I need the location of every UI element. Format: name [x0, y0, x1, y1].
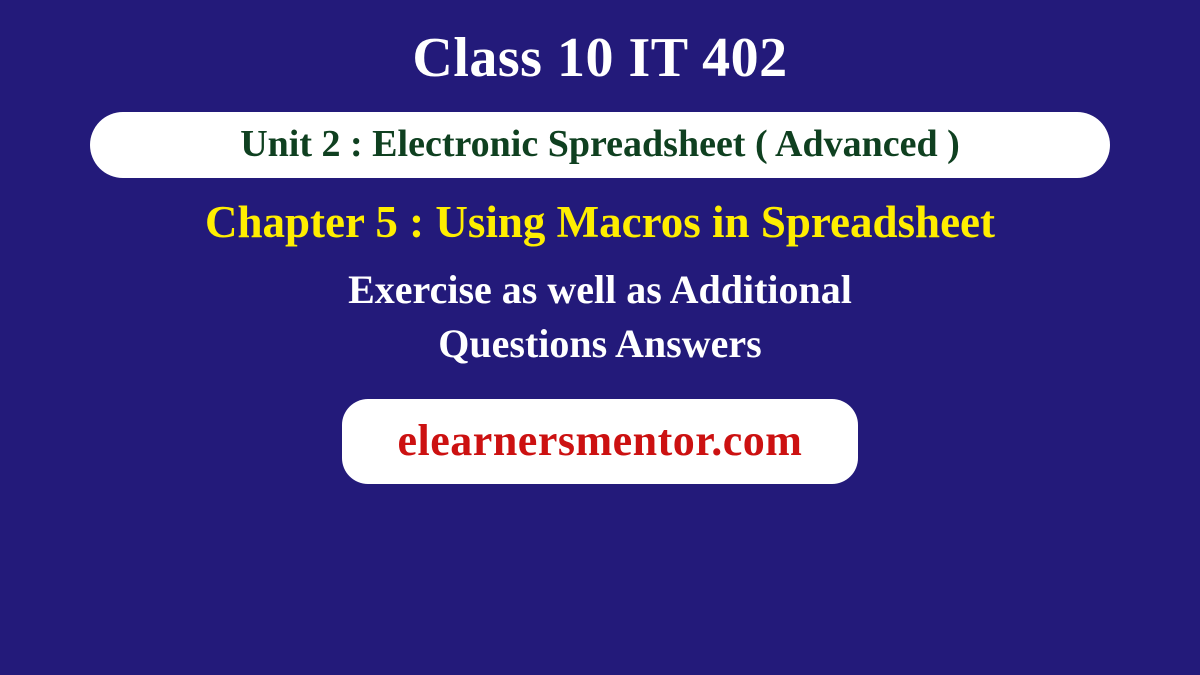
unit-badge-label: Unit 2 : Electronic Spreadsheet ( Advanc… — [240, 123, 960, 165]
subtitle-line-1: Exercise as well as Additional — [348, 263, 852, 317]
subtitle-block: Exercise as well as Additional Questions… — [348, 263, 852, 371]
website-badge: elearnersmentor.com — [342, 399, 859, 484]
subtitle-line-2: Questions Answers — [348, 317, 852, 371]
poster-container: Class 10 IT 402 Unit 2 : Electronic Spre… — [0, 0, 1200, 675]
page-title: Class 10 IT 402 — [412, 28, 787, 90]
unit-badge: Unit 2 : Electronic Spreadsheet ( Advanc… — [90, 112, 1110, 178]
website-badge-label: elearnersmentor.com — [398, 416, 803, 465]
chapter-heading: Chapter 5 : Using Macros in Spreadsheet — [205, 198, 995, 248]
